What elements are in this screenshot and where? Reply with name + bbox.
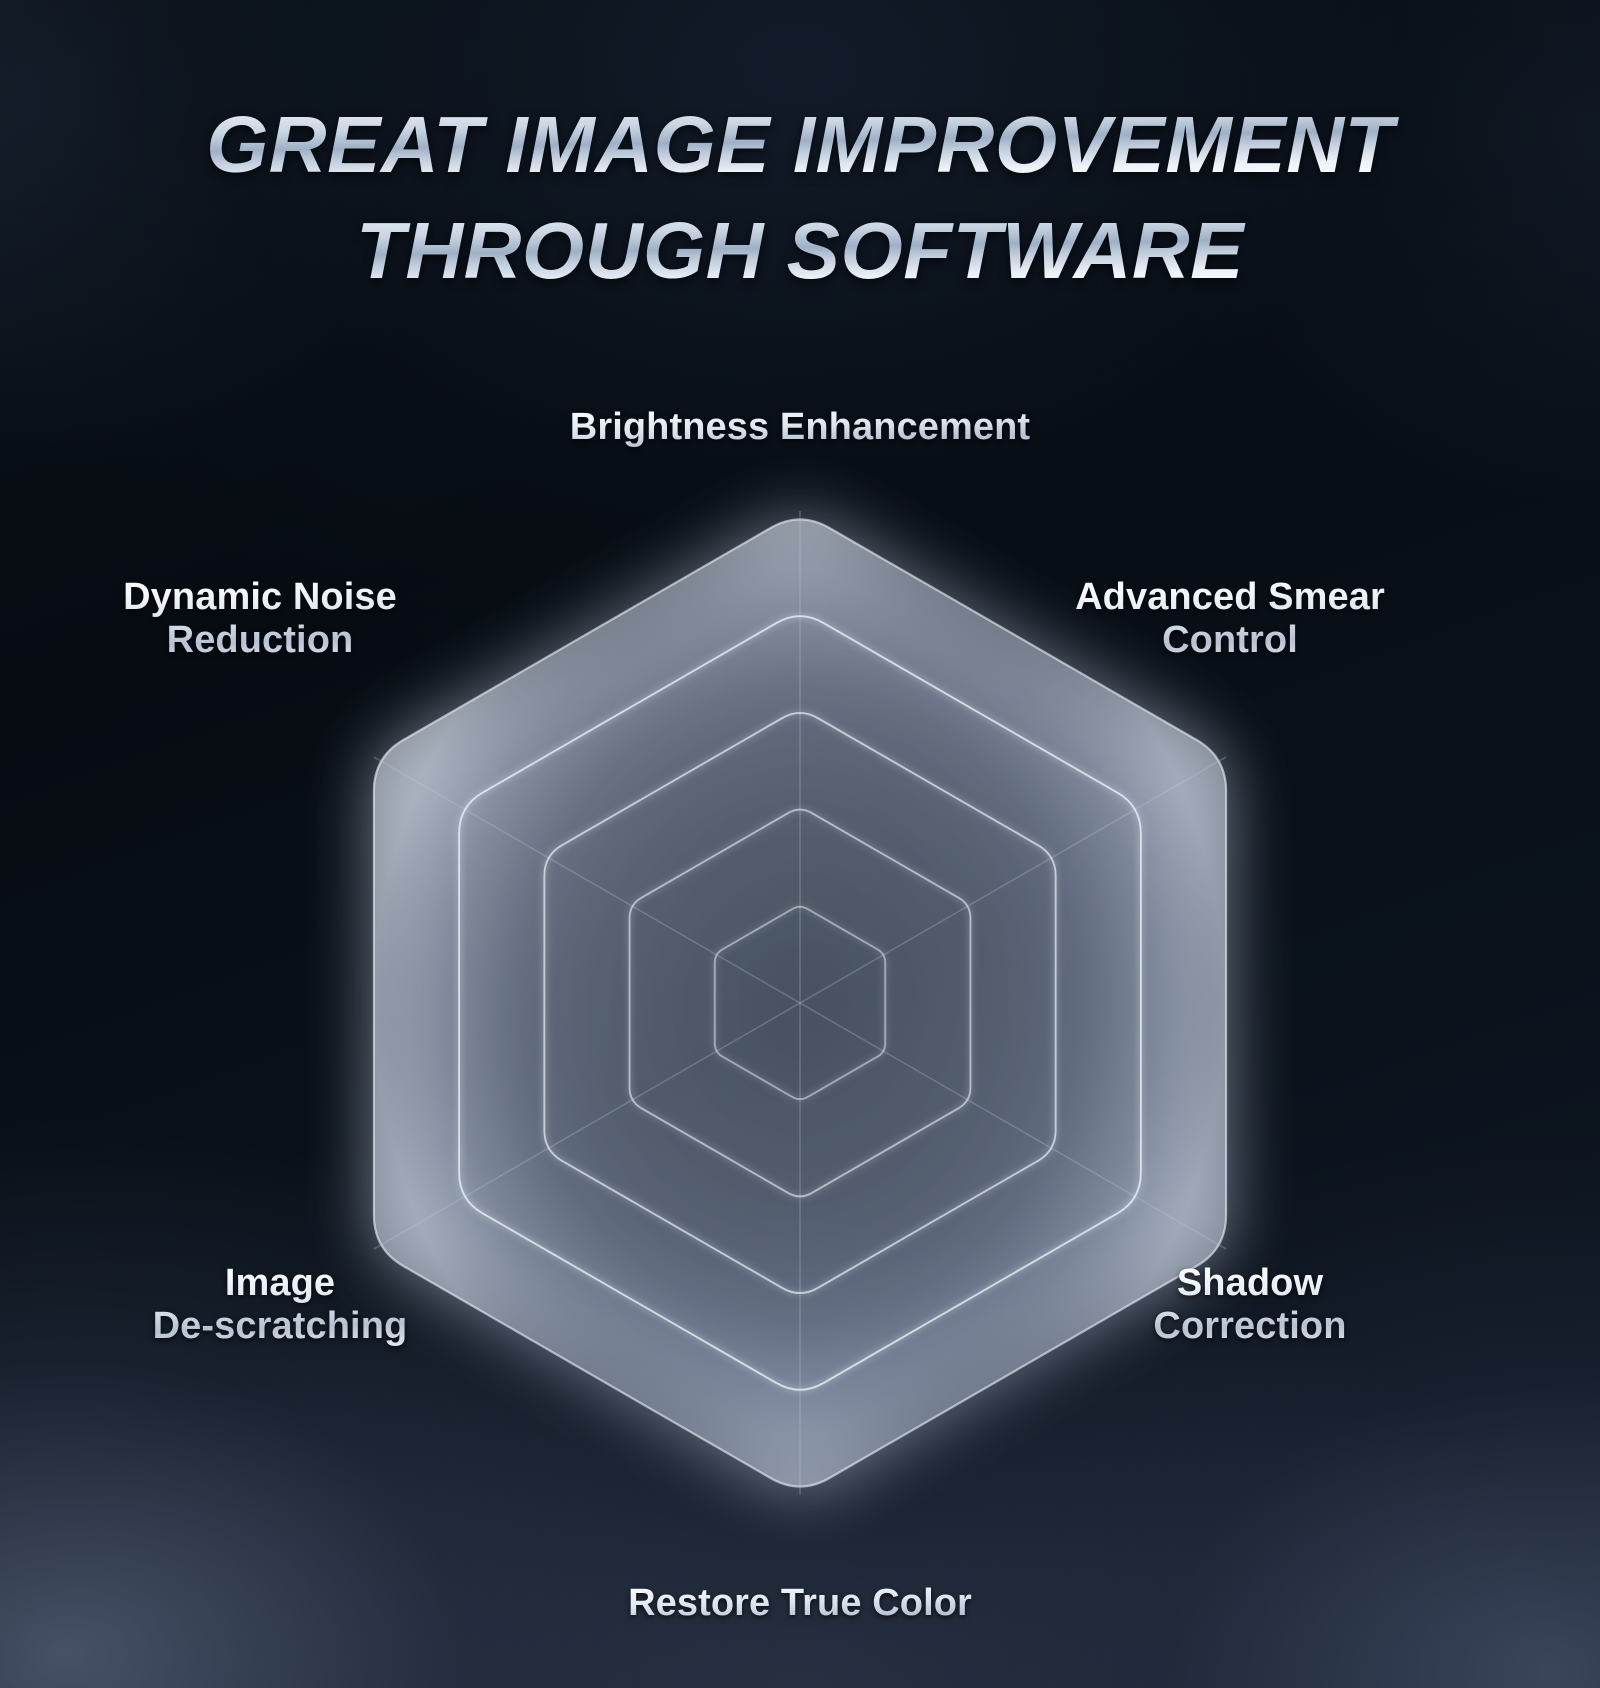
axis-label-restore-true-color: Restore True Color	[400, 1582, 1200, 1625]
radar-ring	[715, 907, 885, 1099]
radar-ring	[459, 616, 1141, 1390]
axis-label-brightness-enhancement: Brightness Enhancement	[400, 406, 1200, 449]
radar-ring-glow	[544, 713, 1055, 1293]
radar-spoke	[800, 757, 1226, 1003]
radar-ring	[544, 713, 1055, 1293]
axis-label-image-de-scratching: Image De-scratching	[60, 1262, 500, 1348]
title-line-1: GREAT IMAGE IMPROVEMENT	[0, 92, 1600, 198]
page-title: GREAT IMAGE IMPROVEMENT THROUGH SOFTWARE	[0, 92, 1600, 305]
radar-spoke	[800, 1003, 1226, 1249]
radar-ring-glow	[715, 907, 885, 1099]
radar-ring	[630, 810, 971, 1197]
radar-spoke	[374, 1003, 800, 1249]
radar-rings-inner	[459, 616, 1141, 1390]
axis-label-advanced-smear-control: Advanced Smear Control	[1000, 576, 1460, 662]
radar-ring-glow	[630, 810, 971, 1197]
title-line-2: THROUGH SOFTWARE	[0, 198, 1600, 304]
radar-spoke	[374, 757, 800, 1003]
axis-label-dynamic-noise-reduction: Dynamic Noise Reduction	[40, 576, 480, 662]
poster-canvas: GREAT IMAGE IMPROVEMENT THROUGH SOFTWARE	[0, 0, 1600, 1688]
radar-ring-glow	[459, 616, 1141, 1390]
axis-label-shadow-correction: Shadow Correction	[1040, 1262, 1460, 1348]
